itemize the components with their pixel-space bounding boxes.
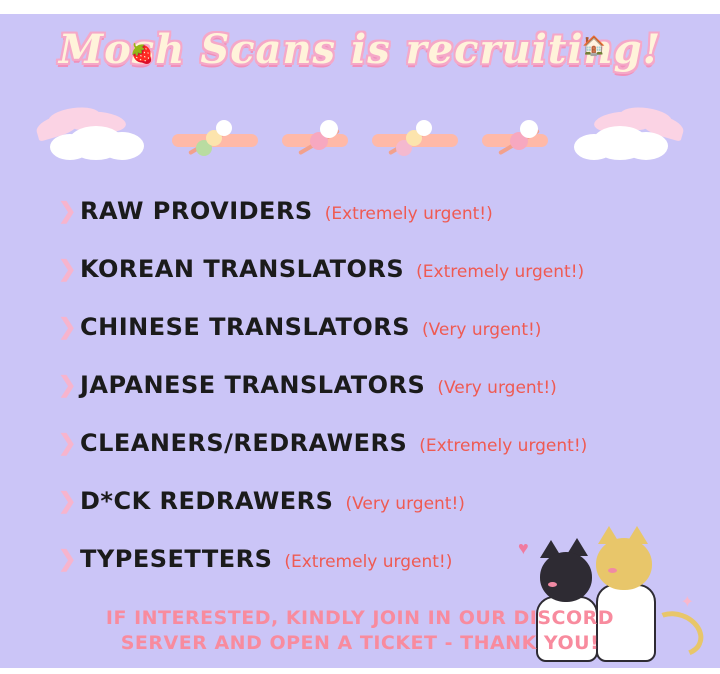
footer-line-2: SERVER AND OPEN A TICKET - THANK YOU! <box>0 631 720 656</box>
top-border-strip <box>0 0 720 14</box>
role-urgency: (Extremely urgent!) <box>419 436 587 456</box>
wing-right-icon <box>558 108 686 164</box>
blush-mark <box>548 582 557 587</box>
footer-message: IF INTERESTED, KINDLY JOIN IN OUR DISCOR… <box>0 606 720 656</box>
role-urgency: (Extremely urgent!) <box>416 262 584 282</box>
chevron-right-icon: ❯ <box>58 200 80 222</box>
chevron-right-icon: ❯ <box>58 316 80 338</box>
role-urgency: (Very urgent!) <box>422 320 541 340</box>
title-area: 🍓 Mosh Scans is recruiting! 🏠 <box>0 26 720 73</box>
role-label: CLEANERS/REDRAWERS <box>80 429 407 457</box>
chevron-right-icon: ❯ <box>58 258 80 280</box>
chevron-right-icon: ❯ <box>58 374 80 396</box>
role-urgency: (Very urgent!) <box>345 494 464 514</box>
role-urgency: (Very urgent!) <box>437 378 556 398</box>
list-item: ❯ CLEANERS/REDRAWERS (Extremely urgent!) <box>0 414 720 472</box>
decorative-divider <box>0 104 720 168</box>
list-item: ❯ CHINESE TRANSLATORS (Very urgent!) <box>0 298 720 356</box>
role-label: RAW PROVIDERS <box>80 197 313 225</box>
wing-left-icon <box>34 108 162 164</box>
list-item: ❯ KOREAN TRANSLATORS (Extremely urgent!) <box>0 240 720 298</box>
strawberry-icon: 🍓 <box>130 42 154 66</box>
role-urgency: (Extremely urgent!) <box>325 204 493 224</box>
chevron-right-icon: ❯ <box>58 548 80 570</box>
role-urgency: (Extremely urgent!) <box>284 552 452 572</box>
footer-line-1: IF INTERESTED, KINDLY JOIN IN OUR DISCOR… <box>0 606 720 631</box>
role-label: TYPESETTERS <box>80 545 272 573</box>
chevron-right-icon: ❯ <box>58 490 80 512</box>
chibi-head-right <box>596 538 652 590</box>
chevron-right-icon: ❯ <box>58 432 80 454</box>
role-label: D*CK REDRAWERS <box>80 487 333 515</box>
chibi-head-left <box>540 552 592 602</box>
list-item: ❯ RAW PROVIDERS (Extremely urgent!) <box>0 182 720 240</box>
heart-icon: ♥ <box>518 538 529 559</box>
blush-mark <box>608 568 617 573</box>
role-label: KOREAN TRANSLATORS <box>80 255 404 283</box>
role-label: CHINESE TRANSLATORS <box>80 313 410 341</box>
recruitment-poster: 🍓 Mosh Scans is recruiting! 🏠 <box>0 0 720 674</box>
house-icon: 🏠 <box>582 34 606 58</box>
role-label: JAPANESE TRANSLATORS <box>80 371 425 399</box>
bottom-border-strip <box>0 668 720 674</box>
list-item: ❯ JAPANESE TRANSLATORS (Very urgent!) <box>0 356 720 414</box>
